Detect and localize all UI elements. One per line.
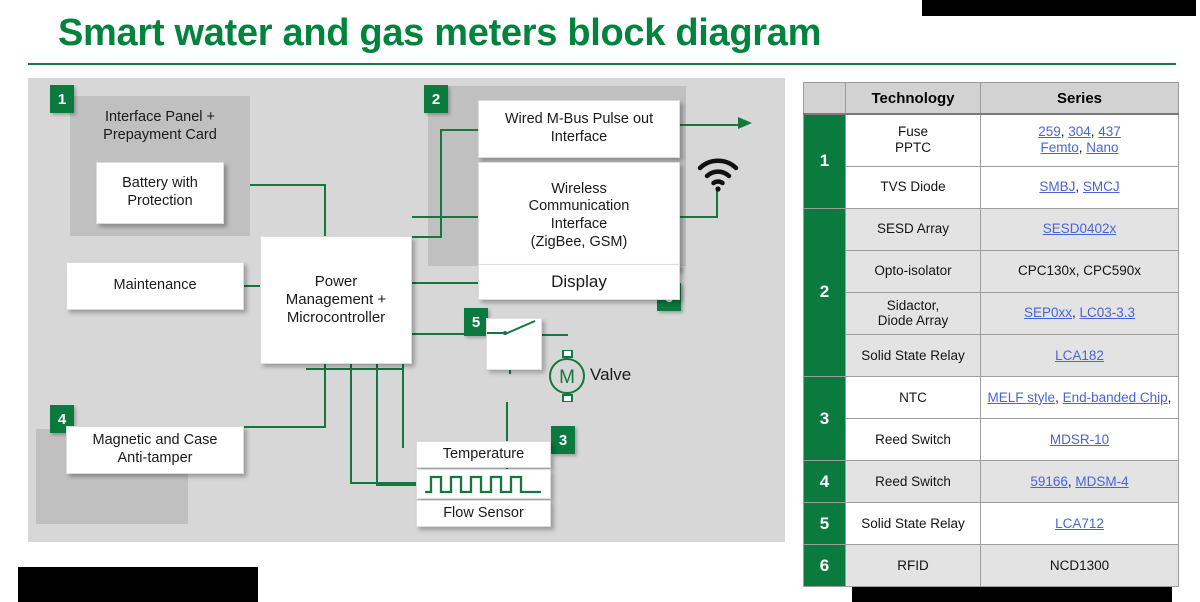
badge-3[interactable]: 3 xyxy=(551,426,575,454)
table-cell-number: 4 xyxy=(804,461,846,503)
table-cell-technology: Solid State Relay xyxy=(846,503,981,545)
series-link[interactable]: 259 xyxy=(1038,124,1061,139)
interface-panel-line1: Interface Panel + xyxy=(74,108,246,126)
valve-label: Valve xyxy=(590,365,631,385)
table-cell-technology: Sidactor,Diode Array xyxy=(846,292,981,335)
table-cell-number: 6 xyxy=(804,545,846,587)
table-row: 3NTCMELF style, End-banded Chip, xyxy=(804,377,1179,419)
table-cell-number: 3 xyxy=(804,377,846,461)
badge-5[interactable]: 5 xyxy=(464,308,488,336)
antitamper-line2: Anti-tamper xyxy=(93,450,218,468)
arrow-right-icon xyxy=(738,117,752,129)
wire-wireless-to-antenna-h xyxy=(680,216,718,218)
battery-line1: Battery with xyxy=(122,175,198,193)
wireless-line3: Interface xyxy=(529,216,630,234)
series-text: , xyxy=(1075,179,1083,194)
wire-mcu-branch-3 xyxy=(376,364,378,486)
table-row: Opto-isolatorCPC130x, CPC590x xyxy=(804,250,1179,292)
table-cell-series: 59166, MDSM-4 xyxy=(981,461,1179,503)
table-cell-series: SMBJ, SMCJ xyxy=(981,166,1179,208)
table-cell-technology: TVS Diode xyxy=(846,166,981,208)
relay-switch-icon xyxy=(487,319,541,369)
wire-mcu-to-display xyxy=(412,282,480,284)
title-divider xyxy=(28,63,1176,65)
wireless-line2: Communication xyxy=(529,198,630,216)
wire-mcu-branch-4 xyxy=(402,364,404,448)
block-diagram-panel: 1 2 3 4 5 6 Interface Panel + Prepayment… xyxy=(28,78,785,542)
series-text: , xyxy=(1055,390,1063,405)
table-row: Reed SwitchMDSR-10 xyxy=(804,419,1179,461)
relay-switch-block[interactable] xyxy=(486,318,542,370)
battery-block[interactable]: Battery with Protection xyxy=(96,162,224,224)
pulse-waveform-icon xyxy=(421,473,546,495)
table-row: Solid State RelayLCA182 xyxy=(804,335,1179,377)
series-text: NCD1300 xyxy=(1050,558,1109,573)
table-row: 1FusePPTC259, 304, 437Femto, Nano xyxy=(804,114,1179,166)
component-table: Technology Series 1FusePPTC259, 304, 437… xyxy=(803,82,1179,587)
interface-panel-line2: Prepayment Card xyxy=(74,126,246,144)
wire-mcu-to-flow xyxy=(376,484,418,486)
wireless-line1: Wireless xyxy=(529,181,630,199)
series-link[interactable]: Nano xyxy=(1086,140,1118,155)
temperature-block[interactable]: Temperature xyxy=(416,441,551,468)
series-link[interactable]: SEP0xx xyxy=(1024,305,1072,320)
table-cell-series: NCD1300 xyxy=(981,545,1179,587)
series-text: , xyxy=(1168,390,1172,405)
pulse-output-block[interactable] xyxy=(416,469,551,499)
table-row: Sidactor,Diode ArraySEP0xx, LC03-3.3 xyxy=(804,292,1179,335)
series-text: CPC130x, CPC590x xyxy=(1018,263,1141,278)
series-link[interactable]: LCA712 xyxy=(1055,516,1104,531)
table-cell-technology: Opto-isolator xyxy=(846,250,981,292)
badge-2[interactable]: 2 xyxy=(424,85,448,113)
wire-mcu-top-h xyxy=(412,236,442,238)
wire-mcu-to-mbus-v xyxy=(440,129,442,237)
table-cell-technology: RFID xyxy=(846,545,981,587)
series-link[interactable]: End-banded Chip xyxy=(1063,390,1168,405)
wire-mcu-to-mbus-h xyxy=(440,129,480,131)
component-table-wrapper: Technology Series 1FusePPTC259, 304, 437… xyxy=(803,82,1178,572)
series-link[interactable]: Femto xyxy=(1040,140,1078,155)
wire-wireless-to-antenna-v xyxy=(716,190,718,218)
table-cell-series: SESD0402x xyxy=(981,208,1179,250)
mbus-interface-block[interactable]: Wired M-Bus Pulse out Interface xyxy=(478,100,680,158)
anti-tamper-block[interactable]: Magnetic and Case Anti-tamper xyxy=(66,426,244,474)
wire-mbus-output xyxy=(680,124,738,126)
wire-mcu-to-wireless xyxy=(412,216,480,218)
mcu-line2: Management + xyxy=(286,291,386,309)
mcu-block[interactable]: Power Management + Microcontroller xyxy=(260,236,412,364)
table-row: 6RFIDNCD1300 xyxy=(804,545,1179,587)
table-cell-number: 5 xyxy=(804,503,846,545)
table-cell-technology: Reed Switch xyxy=(846,419,981,461)
wire-switch-feedback-h xyxy=(306,368,402,370)
series-link[interactable]: LC03-3.3 xyxy=(1080,305,1136,320)
table-cell-number: 1 xyxy=(804,114,846,208)
mbus-line1: Wired M-Bus Pulse out xyxy=(505,111,653,129)
interface-panel-label: Interface Panel + Prepayment Card xyxy=(74,108,246,144)
wireless-interface-block[interactable]: Wireless Communication Interface (ZigBee… xyxy=(478,162,680,270)
table-cell-series: MELF style, End-banded Chip, xyxy=(981,377,1179,419)
badge-1[interactable]: 1 xyxy=(50,85,74,113)
flow-sensor-block[interactable]: Flow Sensor xyxy=(416,500,551,527)
wireless-line4: (ZigBee, GSM) xyxy=(529,234,630,252)
battery-line2: Protection xyxy=(122,193,198,211)
display-block[interactable]: Display xyxy=(478,264,680,300)
series-link[interactable]: SMCJ xyxy=(1083,179,1120,194)
table-row: 4Reed Switch59166, MDSM-4 xyxy=(804,461,1179,503)
table-cell-series: LCA712 xyxy=(981,503,1179,545)
mcu-line1: Power xyxy=(286,273,386,291)
th-number xyxy=(804,83,846,115)
series-link[interactable]: MDSR-10 xyxy=(1050,432,1109,447)
th-series: Series xyxy=(981,83,1179,115)
table-row: 5Solid State RelayLCA712 xyxy=(804,503,1179,545)
series-link[interactable]: MDSM-4 xyxy=(1075,474,1128,489)
table-cell-technology: NTC xyxy=(846,377,981,419)
series-link[interactable]: SMBJ xyxy=(1039,179,1075,194)
table-cell-series: CPC130x, CPC590x xyxy=(981,250,1179,292)
series-link[interactable]: LCA182 xyxy=(1055,348,1104,363)
table-cell-technology: Solid State Relay xyxy=(846,335,981,377)
bottom-left-black-bar xyxy=(18,567,258,602)
wire-mcu-to-antitamper-h xyxy=(244,426,326,428)
top-black-bar xyxy=(922,0,1196,16)
wire-interface-to-mcu-h xyxy=(250,184,326,186)
table-row: 2SESD ArraySESD0402x xyxy=(804,208,1179,250)
series-link[interactable]: 304 xyxy=(1068,124,1091,139)
table-cell-number: 2 xyxy=(804,208,846,377)
series-link[interactable]: 59166 xyxy=(1030,474,1068,489)
series-link[interactable]: MELF style xyxy=(988,390,1056,405)
wire-mcu-to-antitamper-v xyxy=(324,364,326,426)
table-cell-technology: SESD Array xyxy=(846,208,981,250)
series-text: , xyxy=(1072,305,1080,320)
th-technology: Technology xyxy=(846,83,981,115)
mbus-line2: Interface xyxy=(505,129,653,147)
wifi-icon xyxy=(696,156,740,192)
svg-text:M: M xyxy=(559,367,575,388)
wire-interface-to-mcu-v xyxy=(324,184,326,238)
series-link[interactable]: 437 xyxy=(1098,124,1121,139)
table-cell-technology: Reed Switch xyxy=(846,461,981,503)
table-cell-series: LCA182 xyxy=(981,335,1179,377)
motor-icon: M xyxy=(544,350,590,402)
table-cell-series: 259, 304, 437Femto, Nano xyxy=(981,114,1179,166)
antitamper-line1: Magnetic and Case xyxy=(93,432,218,450)
series-link[interactable]: SESD0402x xyxy=(1043,221,1117,236)
table-cell-series: SEP0xx, LC03-3.3 xyxy=(981,292,1179,335)
table-header-row: Technology Series xyxy=(804,83,1179,115)
mcu-line3: Microcontroller xyxy=(286,309,386,327)
table-cell-series: MDSR-10 xyxy=(981,419,1179,461)
table-row: TVS DiodeSMBJ, SMCJ xyxy=(804,166,1179,208)
table-cell-technology: FusePPTC xyxy=(846,114,981,166)
maintenance-block[interactable]: Maintenance xyxy=(66,262,244,310)
wire-mcu-branch-2 xyxy=(350,364,352,482)
page-title: Smart water and gas meters block diagram xyxy=(58,12,821,55)
